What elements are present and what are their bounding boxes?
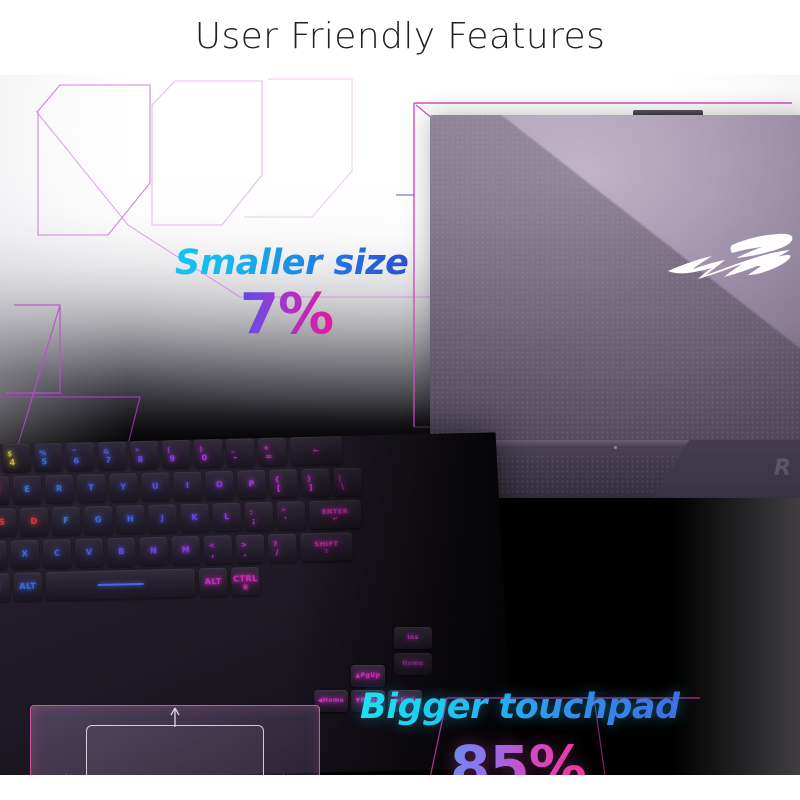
key-legend: I: [186, 482, 190, 490]
key-legend: J: [161, 515, 165, 523]
key-/[interactable]: ?/: [268, 534, 297, 563]
key-alt[interactable]: ALT: [13, 572, 42, 601]
key-legend: P: [248, 480, 255, 488]
bigger-touchpad-value: 85%: [450, 733, 586, 775]
key-x[interactable]: X: [11, 540, 40, 569]
smaller-size-value: 7%: [240, 282, 333, 347]
key-legend-sub: ⇧: [324, 549, 330, 555]
key-legend-bottom: 7: [105, 457, 111, 465]
key-legend-bottom: 4: [9, 459, 15, 467]
key-legend: U: [152, 483, 159, 491]
key-legend-bottom: =: [265, 453, 273, 461]
key-6[interactable]: ^6: [66, 442, 95, 471]
key-d[interactable]: D: [20, 507, 49, 536]
key-legend: X: [22, 550, 29, 558]
key-u[interactable]: U: [141, 472, 170, 501]
key-e[interactable]: E: [13, 475, 42, 504]
key-8[interactable]: *8: [130, 441, 159, 470]
key-legend-bottom: -: [233, 454, 237, 462]
key-b[interactable]: B: [107, 538, 136, 567]
key-legend: S: [0, 519, 5, 527]
key-5[interactable]: %5: [34, 443, 63, 472]
key-4[interactable]: $4: [2, 444, 31, 473]
key-m[interactable]: M: [171, 536, 200, 565]
feature-infographic: User Friendly Features: [0, 0, 800, 800]
rog-eye-logo: [662, 225, 794, 299]
key-t[interactable]: T: [77, 474, 106, 503]
smaller-size-label: Smaller size: [175, 243, 408, 283]
key-legend: ALT: [205, 578, 222, 587]
key-h[interactable]: H: [116, 505, 145, 534]
key-7[interactable]: &7: [98, 441, 127, 470]
key-legend-bottom: [: [277, 485, 282, 493]
key-legend-bottom: 0: [201, 454, 207, 462]
key-y[interactable]: Y: [109, 473, 138, 502]
key-legend: K: [191, 514, 198, 522]
key-v[interactable]: V: [75, 538, 104, 567]
product-photo: R #3$4%5^6&7*8(9)0_-+=←WERTYUIOP{[}]|\SD…: [0, 75, 800, 775]
key-home-side[interactable]: Home: [394, 653, 432, 675]
key-][interactable]: }]: [301, 468, 330, 497]
key-z[interactable]: Z: [0, 541, 7, 570]
key-[[interactable]: {[: [269, 469, 298, 498]
key-legend: D: [30, 518, 37, 526]
laptop-lid: [430, 115, 800, 445]
key--[interactable]: ←: [290, 436, 343, 465]
key-legend: F: [63, 517, 69, 525]
key--[interactable]: _-: [226, 438, 255, 467]
key-pgup[interactable]: ▲PgUp: [351, 665, 385, 687]
key-0[interactable]: )0: [194, 439, 223, 468]
spacebar-indicator: [97, 583, 143, 586]
key-legend-bottom: .: [243, 550, 247, 558]
key-o[interactable]: O: [205, 471, 234, 500]
key-w[interactable]: W: [0, 476, 10, 505]
key-ctrl[interactable]: CTRL▣: [231, 567, 260, 596]
key-legend: N: [150, 547, 158, 555]
key-legend: G: [95, 516, 102, 524]
side-key-column: Ins Home: [394, 627, 432, 675]
key-legend: V: [86, 549, 93, 557]
hinge-brand-mark: R: [774, 456, 792, 481]
key-\[interactable]: |\: [333, 468, 362, 497]
key-legend: CTRL: [233, 575, 258, 584]
key-p[interactable]: P: [237, 470, 266, 499]
key-legend: L: [224, 513, 230, 521]
key-legend: R: [56, 485, 63, 493]
lid-surface: [430, 115, 800, 445]
key-legend-sub: ▣: [242, 584, 248, 590]
key-legend: ALT: [19, 582, 36, 591]
key-legend-bottom: ]: [309, 484, 314, 492]
key-legend: SHIFT: [314, 541, 338, 548]
key-;[interactable]: :;: [244, 502, 273, 531]
key-alt[interactable]: ALT: [199, 568, 228, 597]
key-legend-bottom: 8: [137, 456, 143, 464]
key-f[interactable]: F: [52, 507, 81, 536]
key-shift[interactable]: SHIFT⇧: [300, 532, 354, 562]
key-legend: Y: [120, 483, 127, 491]
key-legend-bottom: 9: [169, 455, 175, 463]
key-.[interactable]: >.: [236, 534, 265, 563]
touchpad-comparison: [30, 705, 320, 775]
key-legend-bottom: 6: [73, 457, 79, 465]
key-c[interactable]: C: [43, 539, 72, 568]
key-=[interactable]: +=: [258, 437, 287, 466]
key-legend: O: [216, 481, 224, 489]
key-legend-bottom: /: [275, 549, 279, 557]
key-legend-bottom: 5: [41, 458, 47, 466]
page-title: User Friendly Features: [0, 14, 800, 59]
key-,[interactable]: <,: [203, 535, 232, 564]
key-legend-bottom: ;: [252, 517, 256, 525]
key-spacebar[interactable]: [46, 568, 196, 600]
key-legend-bottom: ': [284, 517, 287, 525]
key-l[interactable]: L: [212, 503, 241, 532]
keyboard: #3$4%5^6&7*8(9)0_-+=←WERTYUIOP{[}]|\SDFG…: [0, 434, 454, 607]
key-legend: C: [54, 549, 61, 557]
key-legend: M: [182, 546, 191, 554]
key-n[interactable]: N: [139, 537, 168, 566]
key-r[interactable]: R: [45, 475, 74, 504]
key-legend-bottom: \: [341, 483, 345, 491]
key-legend: H: [127, 515, 134, 523]
bigger-touchpad-label: Bigger touchpad: [360, 687, 680, 727]
key-ins[interactable]: Ins: [394, 627, 432, 649]
key-legend: T: [88, 484, 94, 492]
key-i[interactable]: I: [173, 472, 202, 501]
key-legend: E: [24, 486, 30, 494]
key-enter[interactable]: ENTER↵: [309, 500, 362, 529]
key--[interactable]: ⊞: [0, 573, 10, 602]
hinge-indicator-dot: [614, 446, 617, 449]
touchpad-expand-arrows: [30, 705, 320, 775]
key-legend-sub: ↵: [333, 516, 339, 522]
key-'[interactable]: "': [276, 501, 305, 530]
key-k[interactable]: K: [180, 503, 209, 532]
key-legend-bottom: ,: [211, 551, 215, 559]
key-9[interactable]: (9: [162, 440, 191, 469]
key-g[interactable]: G: [84, 506, 113, 535]
key-s[interactable]: S: [0, 508, 16, 537]
key-j[interactable]: J: [148, 504, 177, 533]
key-legend: ←: [313, 447, 319, 454]
key-legend: B: [118, 548, 125, 556]
